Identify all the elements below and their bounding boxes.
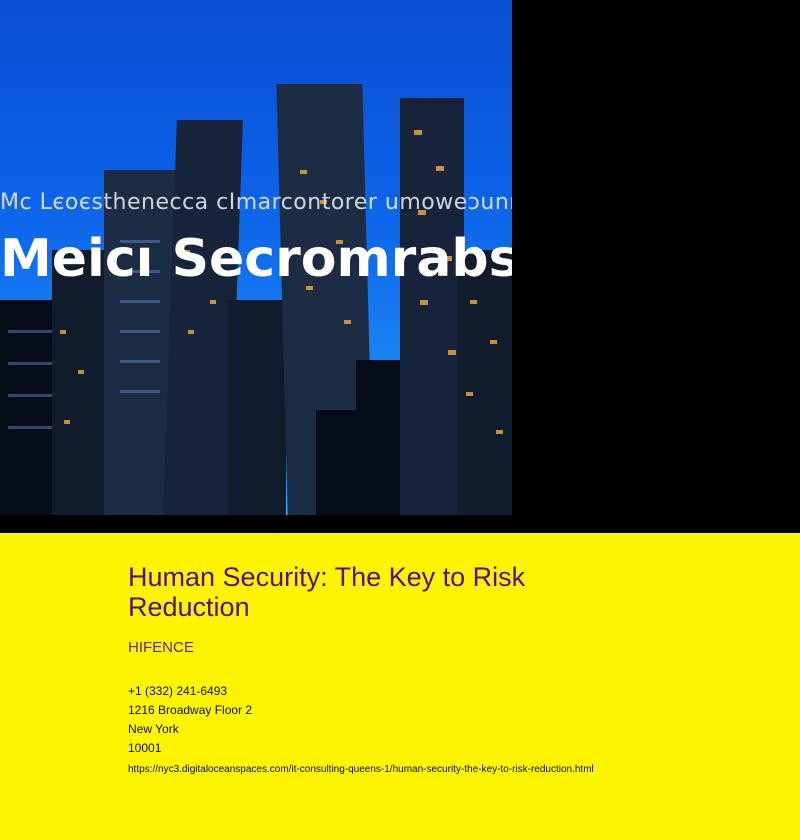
window-light [490, 340, 497, 344]
window-light [306, 286, 313, 290]
window-light [344, 320, 351, 324]
source-url: https://nyc3.digitaloceanspaces.com/it-c… [128, 764, 748, 775]
window-light [120, 300, 160, 303]
window-light [444, 256, 452, 261]
window-light [188, 330, 194, 334]
window-light [420, 300, 428, 305]
page-root: Mc Lєoєsthenecca cImarcontorer umoweɔunr… [0, 0, 800, 840]
window-light [470, 300, 477, 304]
window-light [8, 330, 52, 333]
building-silhouette [400, 98, 464, 515]
contact-zip: 10001 [128, 739, 748, 758]
window-light [436, 166, 444, 171]
window-light [418, 210, 426, 215]
window-light [414, 130, 422, 135]
page-title: Human Security: The Key to Risk Reductio… [128, 562, 628, 622]
contact-block: +1 (332) 241-6493 1216 Broadway Floor 2 … [128, 682, 748, 758]
window-light [300, 170, 307, 174]
window-light [8, 362, 52, 365]
window-light [120, 360, 160, 363]
window-light [466, 392, 473, 396]
info-panel-content: Human Security: The Key to Risk Reductio… [128, 562, 748, 775]
window-light [120, 330, 160, 333]
window-light [120, 240, 160, 243]
window-light [8, 394, 52, 397]
window-light [78, 370, 84, 374]
window-light [120, 270, 160, 273]
building-silhouette [316, 410, 396, 515]
window-light [336, 240, 343, 244]
window-light [120, 390, 160, 393]
contact-street: 1216 Broadway Floor 2 [128, 701, 748, 720]
contact-phone: +1 (332) 241-6493 [128, 682, 748, 701]
window-light [184, 250, 190, 254]
contact-city: New York [128, 720, 748, 739]
window-light [8, 426, 52, 429]
building-silhouette [458, 250, 512, 515]
info-panel: Human Security: The Key to Risk Reductio… [0, 533, 800, 840]
window-light [64, 420, 70, 424]
window-light [60, 330, 66, 334]
building-silhouette [228, 300, 286, 515]
building-silhouette [52, 250, 110, 515]
window-light [320, 200, 327, 204]
window-light [496, 430, 503, 434]
window-light [196, 268, 202, 272]
window-light [210, 300, 216, 304]
brand-name: HIFENCE [128, 639, 748, 656]
hero-image: Mc Lєoєsthenecca cImarcontorer umoweɔunr… [0, 0, 512, 515]
window-light [448, 350, 456, 355]
